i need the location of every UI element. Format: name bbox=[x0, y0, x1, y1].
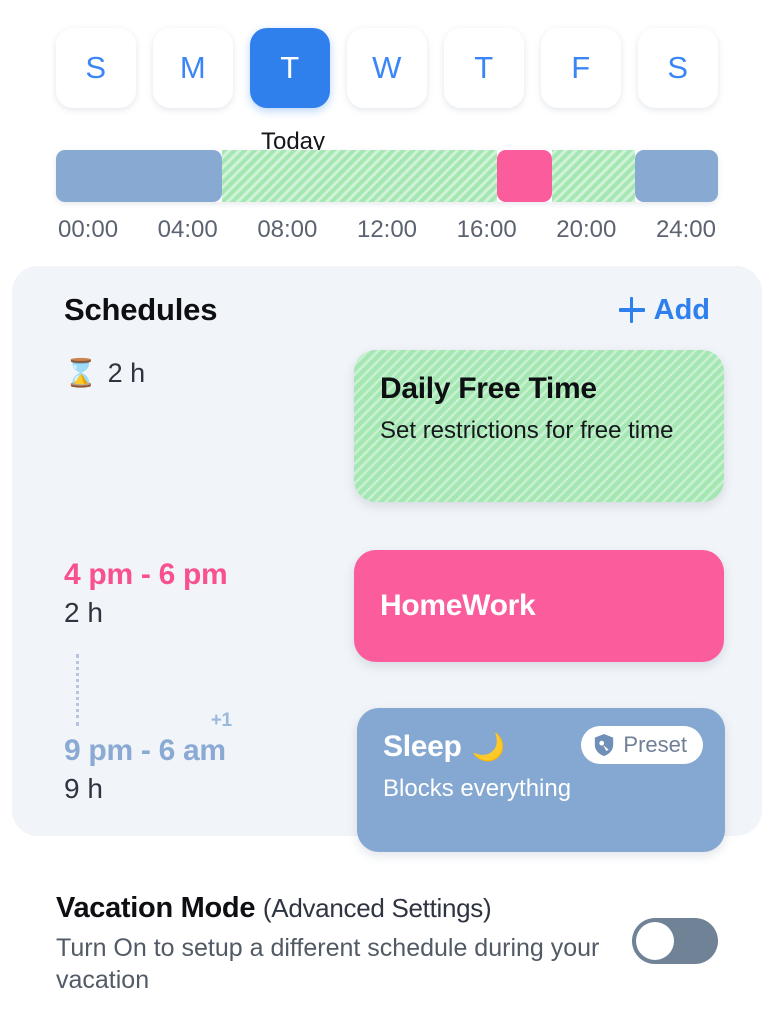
add-schedule-label: Add bbox=[654, 294, 710, 327]
schedule-row-homework: 4 pm - 6 pm 2 h HomeWork bbox=[12, 550, 762, 662]
time-range-value: 9 pm - 6 am bbox=[64, 734, 226, 767]
card-subtitle: Set restrictions for free time bbox=[380, 416, 698, 446]
day-button-wed[interactable]: W bbox=[347, 28, 427, 108]
schedule-meta-sleep: 9 pm - 6 am +1 9 h bbox=[64, 708, 354, 852]
vacation-mode-description: Turn On to setup a different schedule du… bbox=[56, 933, 616, 996]
vacation-title-main: Vacation Mode bbox=[56, 892, 255, 924]
schedule-row-free-time: ⌛ 2 h Daily Free Time Set restrictions f… bbox=[12, 350, 762, 502]
timeline-segment-sleep-night bbox=[635, 150, 718, 202]
next-day-marker: +1 bbox=[211, 710, 232, 732]
schedule-card-wrap: Daily Free Time Set restrictions for fre… bbox=[354, 350, 724, 502]
moon-icon: 🌙 bbox=[472, 734, 506, 761]
timeline-tick: 12:00 bbox=[357, 216, 417, 244]
card-title: Sleep bbox=[383, 730, 462, 765]
vacation-mode-title: Vacation Mode (Advanced Settings) bbox=[56, 892, 616, 925]
schedule-meta-free-time: ⌛ 2 h bbox=[64, 350, 354, 502]
timeline-tick: 20:00 bbox=[556, 216, 616, 244]
vacation-title-suffix: (Advanced Settings) bbox=[263, 893, 491, 923]
preset-badge[interactable]: Preset bbox=[581, 726, 703, 764]
card-title: Daily Free Time bbox=[380, 372, 698, 407]
day-timeline-bar[interactable] bbox=[56, 150, 718, 202]
schedules-header: Schedules Add bbox=[12, 292, 762, 328]
schedule-card-wrap: HomeWork bbox=[354, 550, 724, 662]
timeline-tick: 04:00 bbox=[158, 216, 218, 244]
app-screen: S M T W T F S Today 00:00 04:00 08:00 12… bbox=[0, 0, 774, 1024]
duration-homework: 2 h bbox=[64, 597, 354, 629]
timeline-segment-free-time-evening bbox=[552, 150, 635, 202]
day-button-tue-selected[interactable]: T bbox=[250, 28, 330, 108]
shield-icon bbox=[593, 733, 615, 757]
duration-free-time: ⌛ 2 h bbox=[64, 358, 354, 389]
hourglass-icon: ⌛ bbox=[64, 360, 98, 387]
schedule-card-homework[interactable]: HomeWork bbox=[354, 550, 724, 662]
add-schedule-button[interactable]: Add bbox=[619, 294, 710, 327]
timeline-segment-free-time-day bbox=[222, 150, 498, 202]
day-picker: S M T W T F S bbox=[0, 28, 774, 108]
time-range-sleep: 9 pm - 6 am +1 bbox=[64, 734, 226, 768]
timeline-segment-sleep-morning bbox=[56, 150, 222, 202]
day-button-mon[interactable]: M bbox=[153, 28, 233, 108]
toggle-knob bbox=[636, 922, 674, 960]
duration-sleep: 9 h bbox=[64, 773, 354, 805]
day-button-sun[interactable]: S bbox=[56, 28, 136, 108]
timeline-tick: 24:00 bbox=[656, 216, 716, 244]
day-button-sat[interactable]: S bbox=[638, 28, 718, 108]
vacation-mode-section: Vacation Mode (Advanced Settings) Turn O… bbox=[0, 892, 774, 996]
duration-value: 2 h bbox=[108, 358, 146, 389]
timeline-section: 00:00 04:00 08:00 12:00 16:00 20:00 24:0… bbox=[56, 150, 718, 244]
timeline-tick: 00:00 bbox=[58, 216, 118, 244]
timeline-tick: 08:00 bbox=[257, 216, 317, 244]
timeline-tick: 16:00 bbox=[457, 216, 517, 244]
preset-badge-label: Preset bbox=[623, 732, 687, 758]
schedules-title: Schedules bbox=[64, 292, 217, 328]
vacation-mode-toggle[interactable] bbox=[632, 918, 718, 964]
header-section: S M T W T F S Today 00:00 04:00 08:00 12… bbox=[0, 0, 774, 244]
day-button-fri[interactable]: F bbox=[541, 28, 621, 108]
card-subtitle: Blocks everything bbox=[383, 774, 699, 804]
plus-icon bbox=[619, 297, 645, 323]
vacation-text-block: Vacation Mode (Advanced Settings) Turn O… bbox=[56, 892, 616, 996]
schedule-meta-homework: 4 pm - 6 pm 2 h bbox=[64, 550, 354, 662]
time-range-homework: 4 pm - 6 pm bbox=[64, 558, 227, 592]
schedules-panel: Schedules Add ⌛ 2 h Daily Free Time Set … bbox=[12, 266, 762, 836]
schedule-card-sleep[interactable]: Sleep 🌙 Blocks everything Preset bbox=[357, 708, 725, 852]
schedule-row-sleep: 9 pm - 6 am +1 9 h Sleep 🌙 Blocks everyt… bbox=[12, 708, 762, 852]
card-title: HomeWork bbox=[380, 589, 535, 624]
schedule-card-daily-free-time[interactable]: Daily Free Time Set restrictions for fre… bbox=[354, 350, 724, 502]
timeline-segment-homework bbox=[497, 150, 552, 202]
schedule-card-wrap: Sleep 🌙 Blocks everything Preset bbox=[354, 708, 725, 852]
day-button-thu[interactable]: T bbox=[444, 28, 524, 108]
timeline-ticks: 00:00 04:00 08:00 12:00 16:00 20:00 24:0… bbox=[56, 216, 718, 244]
